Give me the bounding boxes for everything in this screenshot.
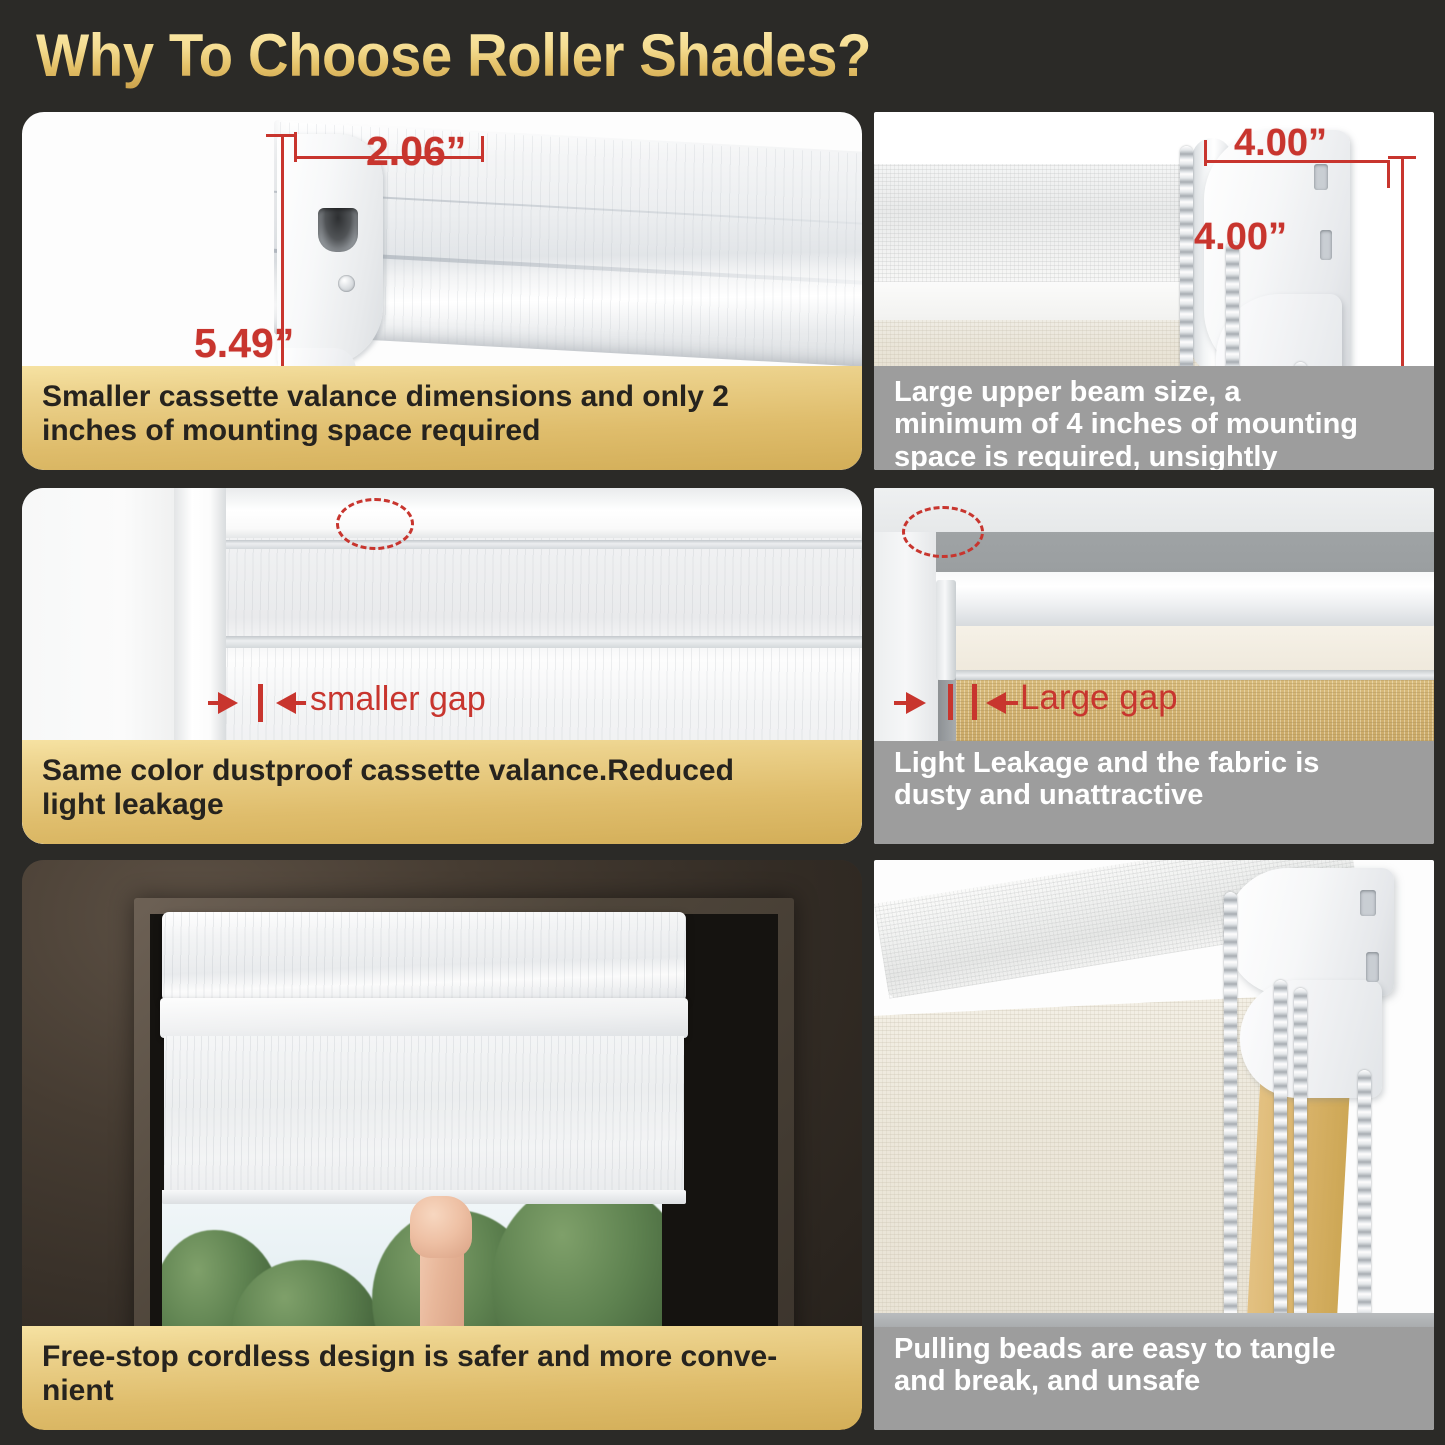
arrow-stem <box>208 701 224 705</box>
end-clip <box>936 580 956 680</box>
hand-icon <box>410 1196 472 1258</box>
bead-chain <box>1294 988 1307 1322</box>
bracket-notch <box>1314 164 1328 190</box>
caption-panel-5: Free-stop cordless design is safer and m… <box>22 1326 862 1430</box>
panel-smaller-gap: smaller gap Same color dustproof cassett… <box>22 488 862 844</box>
dimension-tick <box>1204 140 1207 166</box>
window-frame-top <box>174 488 862 544</box>
bead-chain <box>1224 892 1237 1322</box>
shade-mid-rail <box>226 636 862 648</box>
caption-text: Free-stop cordless design is safer and m… <box>42 1340 777 1407</box>
valance-rail <box>226 540 862 549</box>
dimension-tick <box>1388 156 1416 159</box>
floor-band <box>874 1313 1434 1327</box>
caption-panel-1: Smaller cassette valance dimensions and … <box>22 366 862 470</box>
gap-label: Large gap <box>1020 678 1178 718</box>
caption-panel-2: Large upper beam size, a minimum of 4 in… <box>874 366 1434 470</box>
fabric-cream-band <box>940 626 1434 672</box>
gap-label: smaller gap <box>310 680 486 719</box>
caption-text: Same color dustproof cassette valance.Re… <box>42 754 734 821</box>
valance-slot <box>318 208 358 252</box>
shadow-band <box>936 532 1434 574</box>
dimension-label-width: 2.06” <box>366 128 466 175</box>
roller-tube <box>936 572 1434 628</box>
caption-text: Large upper beam size, a minimum of 4 in… <box>894 376 1358 470</box>
bracket-notch <box>1366 952 1379 982</box>
shade-fabric <box>164 1036 684 1196</box>
arrow-left-icon <box>276 692 296 714</box>
dimension-label-height: 4.00” <box>1194 216 1287 259</box>
dimension-tick <box>266 134 296 137</box>
arrow-stem <box>1004 701 1018 705</box>
caption-text: Smaller cassette valance dimensions and … <box>42 380 729 447</box>
header: Why To Choose Roller Shades? <box>36 14 1416 96</box>
shade-head-rail <box>160 998 688 1038</box>
gap-marker <box>258 684 263 722</box>
panel-large-gap: Large gap Light Leakage and the fabric i… <box>874 488 1434 844</box>
panel-cordless-design: Free-stop cordless design is safer and m… <box>22 860 862 1430</box>
dimension-tick <box>1387 160 1390 188</box>
caption-text: Light Leakage and the fabric is dusty an… <box>894 747 1319 812</box>
dimension-label-height: 5.49” <box>194 320 294 367</box>
arrow-stem <box>894 701 910 705</box>
arrow-stem <box>294 701 306 705</box>
dimension-label-width: 4.00” <box>1234 122 1327 165</box>
comparison-grid: 2.06” 5.49” Smaller cassette valance dim… <box>0 98 1445 1445</box>
bracket-notch <box>1360 890 1376 916</box>
gap-marker <box>948 684 953 720</box>
dimension-tick <box>481 136 484 162</box>
bead-chain <box>1274 980 1287 1322</box>
panel-cassette-dimensions: 2.06” 5.49” Smaller cassette valance dim… <box>22 112 862 470</box>
highlight-circle-icon <box>902 506 984 558</box>
caption-panel-3: Same color dustproof cassette valance.Re… <box>22 740 862 844</box>
page-title: Why To Choose Roller Shades? <box>36 21 871 90</box>
bracket-notch <box>1320 230 1332 260</box>
highlight-circle-icon <box>336 498 414 550</box>
gap-marker <box>972 684 977 720</box>
caption-panel-4: Light Leakage and the fabric is dusty an… <box>874 741 1434 844</box>
panel-pulling-beads: Pulling beads are easy to tangle and bre… <box>874 860 1434 1430</box>
caption-panel-6: Pulling beads are easy to tangle and bre… <box>874 1327 1434 1430</box>
caption-text: Pulling beads are easy to tangle and bre… <box>894 1333 1336 1398</box>
panel-large-beam: 4.00” 4.00” Large upper beam size, a min… <box>874 112 1434 470</box>
fabric-body <box>874 996 1282 1327</box>
screw-icon <box>338 275 355 292</box>
bead-chain <box>1358 1070 1371 1322</box>
arrow-left-icon <box>986 692 1006 714</box>
cassette-valance <box>162 912 686 1002</box>
gap-shadow <box>938 674 956 741</box>
